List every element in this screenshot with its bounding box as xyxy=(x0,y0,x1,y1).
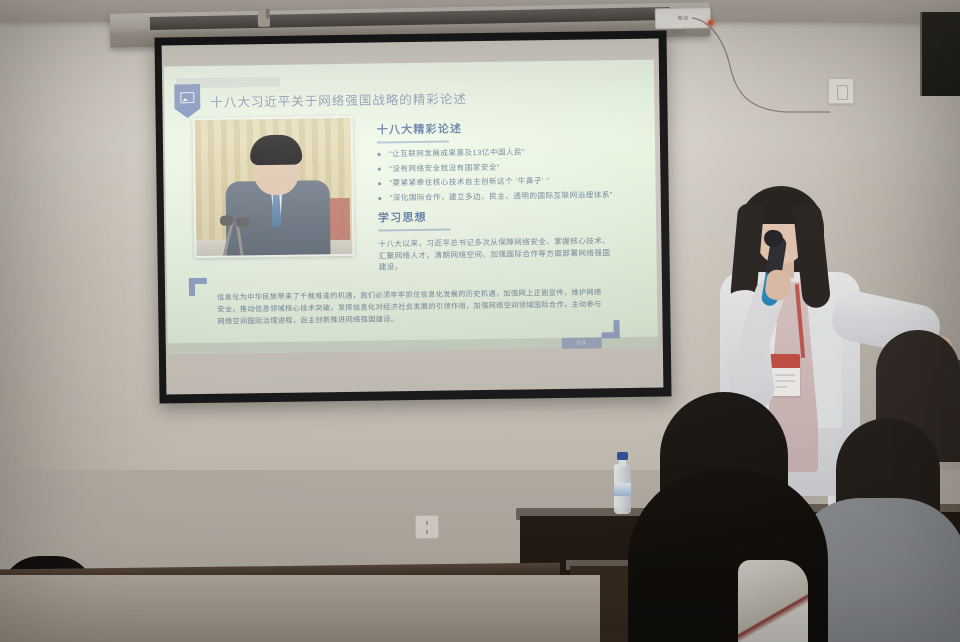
slide-photo xyxy=(193,116,355,258)
mic-capsule-icon xyxy=(236,217,249,227)
photo-microphones xyxy=(214,215,253,258)
audience-member-bag-strap xyxy=(738,560,808,642)
picture-glyph-icon xyxy=(180,92,194,103)
bullet-text: “没有网络安全就没有国家安全” xyxy=(389,164,500,174)
classroom-presentation-scene: 电动 Jin Tooll 十八大习近平关于网络强国 xyxy=(0,0,960,642)
light-switch-plate[interactable] xyxy=(415,515,439,539)
image-shield-icon xyxy=(174,84,200,118)
bullet-diamond-icon xyxy=(378,182,382,186)
mic-stem-icon xyxy=(222,222,234,258)
section-paragraph: 十八大以来，习近平总书记多次从保障网络安全、掌握核心技术、汇聚网络人才、清朗网络… xyxy=(378,235,610,274)
bullet-diamond-icon xyxy=(377,152,381,156)
list-item: “让互联网发展成果惠及13亿中国人民” xyxy=(377,147,635,159)
slide-content: 十八大习近平关于网络强国战略的精彩论述 xyxy=(164,60,658,355)
power-cable xyxy=(690,14,850,134)
bullet-list: “让互联网发展成果惠及13亿中国人民” “没有网络安全就没有国家安全” “要紧紧… xyxy=(377,147,636,203)
quote-text: 信息化为中华民族带来了千载难逢的机遇，我们必须牢牢抓住信息化发展的历史机遇，加强… xyxy=(217,286,607,328)
water-bottle[interactable] xyxy=(614,452,631,514)
badge-header xyxy=(770,354,800,368)
list-item: “要紧紧牵住核心技术自主创新这个 ‘牛鼻子’ ” xyxy=(377,176,635,188)
quote-corner-top-left-icon xyxy=(189,278,207,296)
wall-speaker xyxy=(920,12,960,96)
slide-text-column: 十八大精彩论述 “让互联网发展成果惠及13亿中国人民” “没有网络安全就没有国家… xyxy=(377,118,637,274)
bullet-diamond-icon xyxy=(377,167,381,171)
photo-subject-hair xyxy=(250,135,302,166)
bullet-diamond-icon xyxy=(378,197,382,201)
switch-slot-icon xyxy=(426,521,428,525)
section-heading-2: 学习思想 xyxy=(378,206,636,226)
heading-rule xyxy=(378,228,450,231)
quote-block: 信息化为中华民族带来了千载难逢的机遇，我们必须牢牢抓住信息化发展的历史机遇，加强… xyxy=(189,272,620,340)
lower-wall xyxy=(0,575,600,642)
bullet-text: “深化国际合作，建立多边、民主、透明的国际互联网治理体系” xyxy=(390,191,613,203)
screen-surface: 十八大习近平关于网络强国战略的精彩论述 xyxy=(162,39,664,395)
bullet-text: “让互联网发展成果惠及13亿中国人民” xyxy=(389,148,525,159)
projection-screen[interactable]: 十八大习近平关于网络强国战略的精彩论述 xyxy=(154,30,671,403)
heading-rule xyxy=(377,140,449,143)
wall-shadow-left xyxy=(0,0,180,470)
section-heading-1: 十八大精彩论述 xyxy=(377,118,635,138)
badge-text-line xyxy=(775,380,795,382)
slide-header: 十八大习近平关于网络强国战略的精彩论述 xyxy=(174,80,467,118)
bottle-cap xyxy=(617,452,628,460)
badge-text-line xyxy=(775,374,795,376)
wall-power-outlet[interactable] xyxy=(828,78,854,104)
mic-capsule-icon xyxy=(220,216,233,226)
list-item: “没有网络安全就没有国家安全” xyxy=(377,162,635,174)
bullet-text: “要紧紧牵住核心技术自主创新这个 ‘牛鼻子’ ” xyxy=(389,178,549,189)
badge-text-line xyxy=(775,386,787,388)
id-badge xyxy=(770,354,800,396)
bottle-label xyxy=(614,483,631,496)
projected-slide: 十八大习近平关于网络强国战略的精彩论述 xyxy=(164,60,658,355)
slide-title: 十八大习近平关于网络强国战略的精彩论述 xyxy=(210,88,467,111)
roller-mount-pin xyxy=(266,9,270,19)
switch-slot-icon xyxy=(426,530,428,534)
list-item: “深化国际合作，建立多边、民主、透明的国际互联网治理体系” xyxy=(378,191,636,203)
